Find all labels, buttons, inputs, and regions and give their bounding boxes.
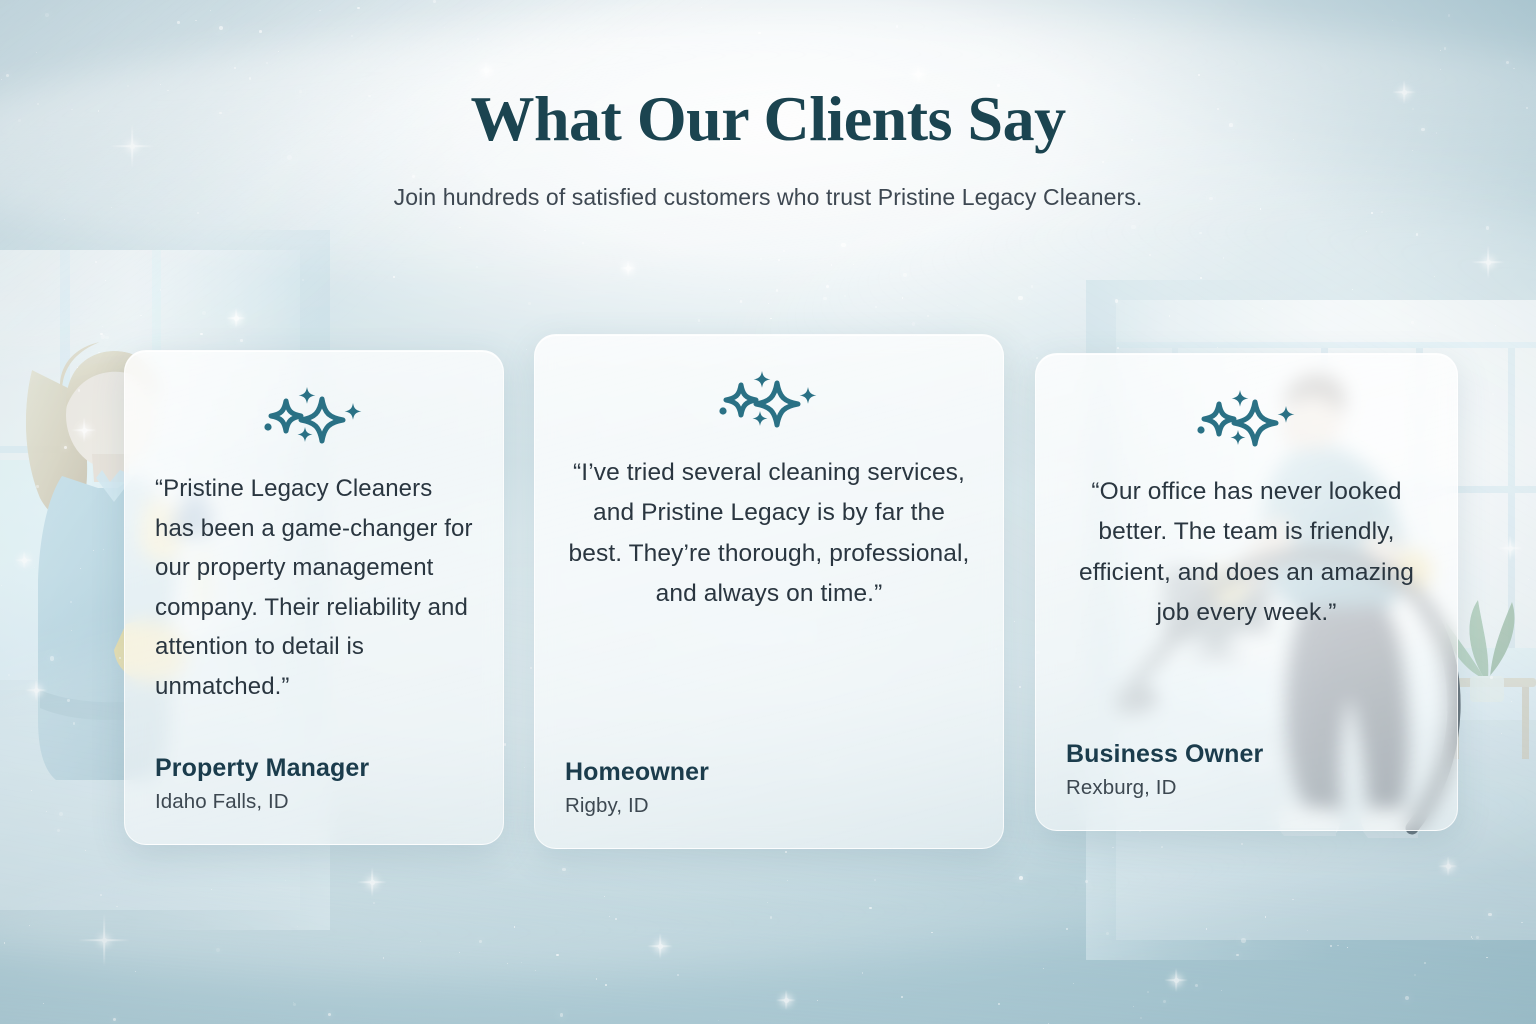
card-spacer: [155, 707, 473, 754]
testimonial-card[interactable]: “I’ve tried several cleaning services, a…: [534, 334, 1004, 849]
author-role: Homeowner: [565, 758, 973, 787]
author-role: Property Manager: [155, 754, 473, 783]
sparkles-icon: [1193, 388, 1301, 448]
testimonial-quote: “I’ve tried several cleaning services, a…: [565, 453, 973, 615]
author-role: Business Owner: [1066, 740, 1427, 769]
testimonial-card[interactable]: “Pristine Legacy Cleaners has been a gam…: [124, 350, 504, 845]
testimonial-quote: “Pristine Legacy Cleaners has been a gam…: [155, 469, 473, 707]
testimonial-author: Business Owner Rexburg, ID: [1066, 740, 1427, 800]
testimonial-author: Property Manager Idaho Falls, ID: [155, 754, 473, 814]
testimonial-quote: “Our office has never looked better. The…: [1066, 472, 1427, 634]
author-location: Idaho Falls, ID: [155, 790, 473, 814]
testimonial-cards: “Pristine Legacy Cleaners has been a gam…: [0, 0, 1536, 1024]
testimonial-card[interactable]: “Our office has never looked better. The…: [1035, 353, 1458, 831]
card-spacer: [565, 615, 973, 758]
author-location: Rigby, ID: [565, 794, 973, 818]
card-spacer: [1066, 634, 1427, 740]
sparkles-icon: [260, 385, 368, 445]
sparkles-icon: [715, 369, 823, 429]
author-location: Rexburg, ID: [1066, 776, 1427, 800]
testimonial-author: Homeowner Rigby, ID: [565, 758, 973, 818]
